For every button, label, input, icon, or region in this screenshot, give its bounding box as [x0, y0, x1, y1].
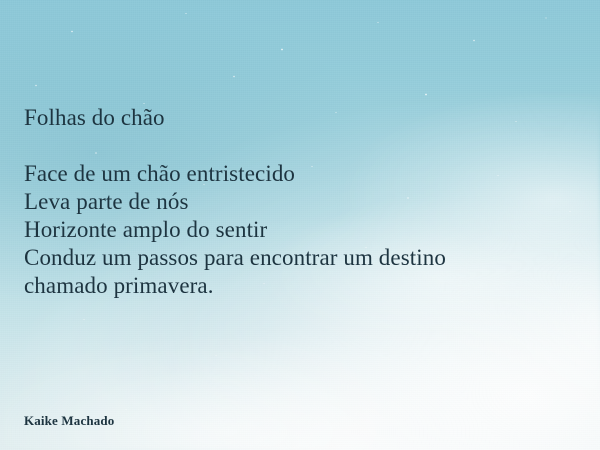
poem-line: Leva parte de nós [24, 188, 582, 216]
poem-line: Horizonte amplo do sentir [24, 216, 582, 244]
poem-poster: Folhas do chão Face de um chão entristec… [0, 0, 600, 450]
poem-line: Conduz um passos para encontrar um desti… [24, 244, 582, 272]
poem-title: Folhas do chão [24, 104, 582, 132]
poem-line: Face de um chão entristecido [24, 160, 582, 188]
poem-line: chamado primavera. [24, 272, 582, 300]
poem-body: Face de um chão entristecido Leva parte … [24, 160, 582, 300]
poem-title-spacer [24, 132, 582, 160]
author-attribution: Kaike Machado [24, 412, 114, 430]
poem-content: Folhas do chão Face de um chão entristec… [24, 104, 582, 300]
